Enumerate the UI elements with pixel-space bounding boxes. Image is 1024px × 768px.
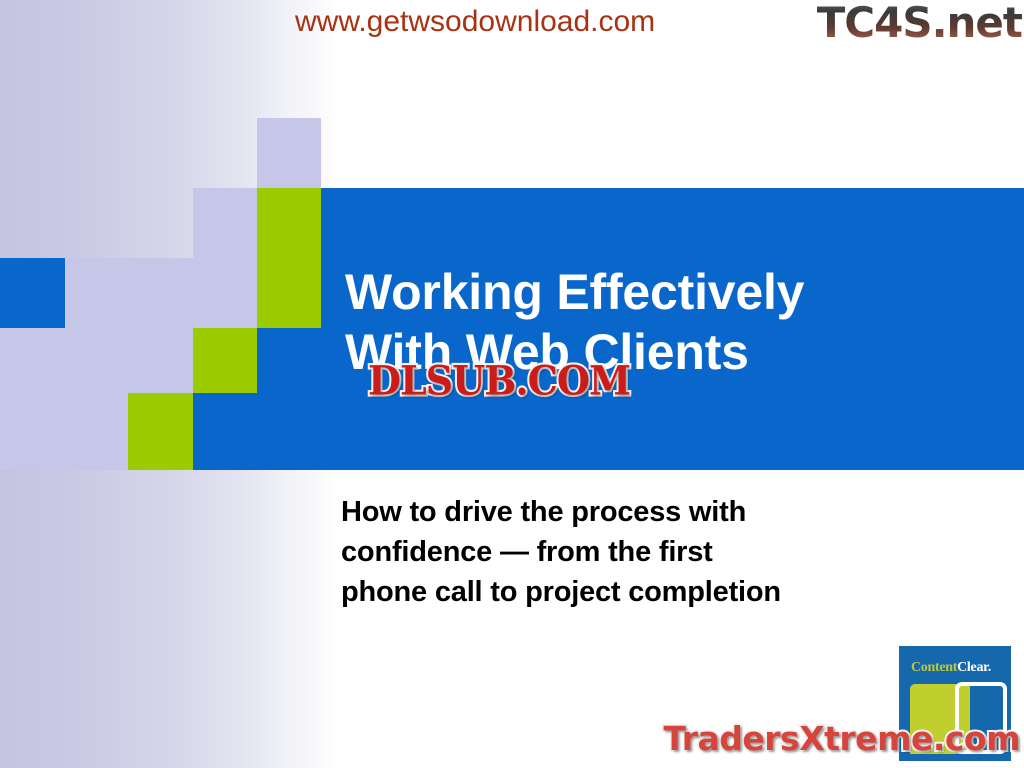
mosaic-tile-lavender-r4c1: [0, 328, 65, 393]
contentclear-word-content: Content: [911, 660, 957, 675]
presentation-slide: Working Effectively With Web Clients DLS…: [0, 0, 1024, 768]
mosaic-tile-lavender-r4c2: [65, 328, 128, 393]
mosaic-tile-lavender-r2c4: [193, 188, 257, 258]
mosaic-tile-lavender-r5c1: [0, 393, 65, 470]
mosaic-tile-lavender-r3c2: [65, 258, 128, 328]
mosaic-tile-lavender-r3c3: [128, 258, 193, 328]
page-subtitle: How to drive the process with confidence…: [341, 492, 981, 612]
mosaic-tile-green-r3c5: [257, 258, 321, 328]
contentclear-word-clear: Clear.: [957, 660, 991, 675]
mosaic-tile-blue-r4c5: [257, 328, 321, 393]
mosaic-tile-blue-r3c1: [0, 258, 65, 328]
dlsub-watermark: DLSUB.COM: [368, 357, 630, 404]
mosaic-tile-green-r5c3: [128, 393, 193, 470]
mosaic-tile-lavender-r5c2: [65, 393, 128, 470]
contentclear-wordmark: ContentClear.: [911, 660, 991, 676]
site-url-watermark: www.getwsodownload.com: [295, 5, 655, 39]
mosaic-tile-lavender-r3c4: [193, 258, 257, 328]
tc4s-logo-watermark: TC4S.net: [817, 0, 1022, 47]
mosaic-tile-green-r4c4: [193, 328, 257, 393]
mosaic-tile-blue-r5c4: [193, 393, 321, 470]
mosaic-tile-lavender-r1c5: [257, 118, 321, 188]
tradersxtreme-watermark: TradersXtreme.com: [663, 719, 1020, 758]
mosaic-tile-lavender-r4c3: [128, 328, 193, 393]
mosaic-tile-green-r2c5: [257, 188, 321, 258]
